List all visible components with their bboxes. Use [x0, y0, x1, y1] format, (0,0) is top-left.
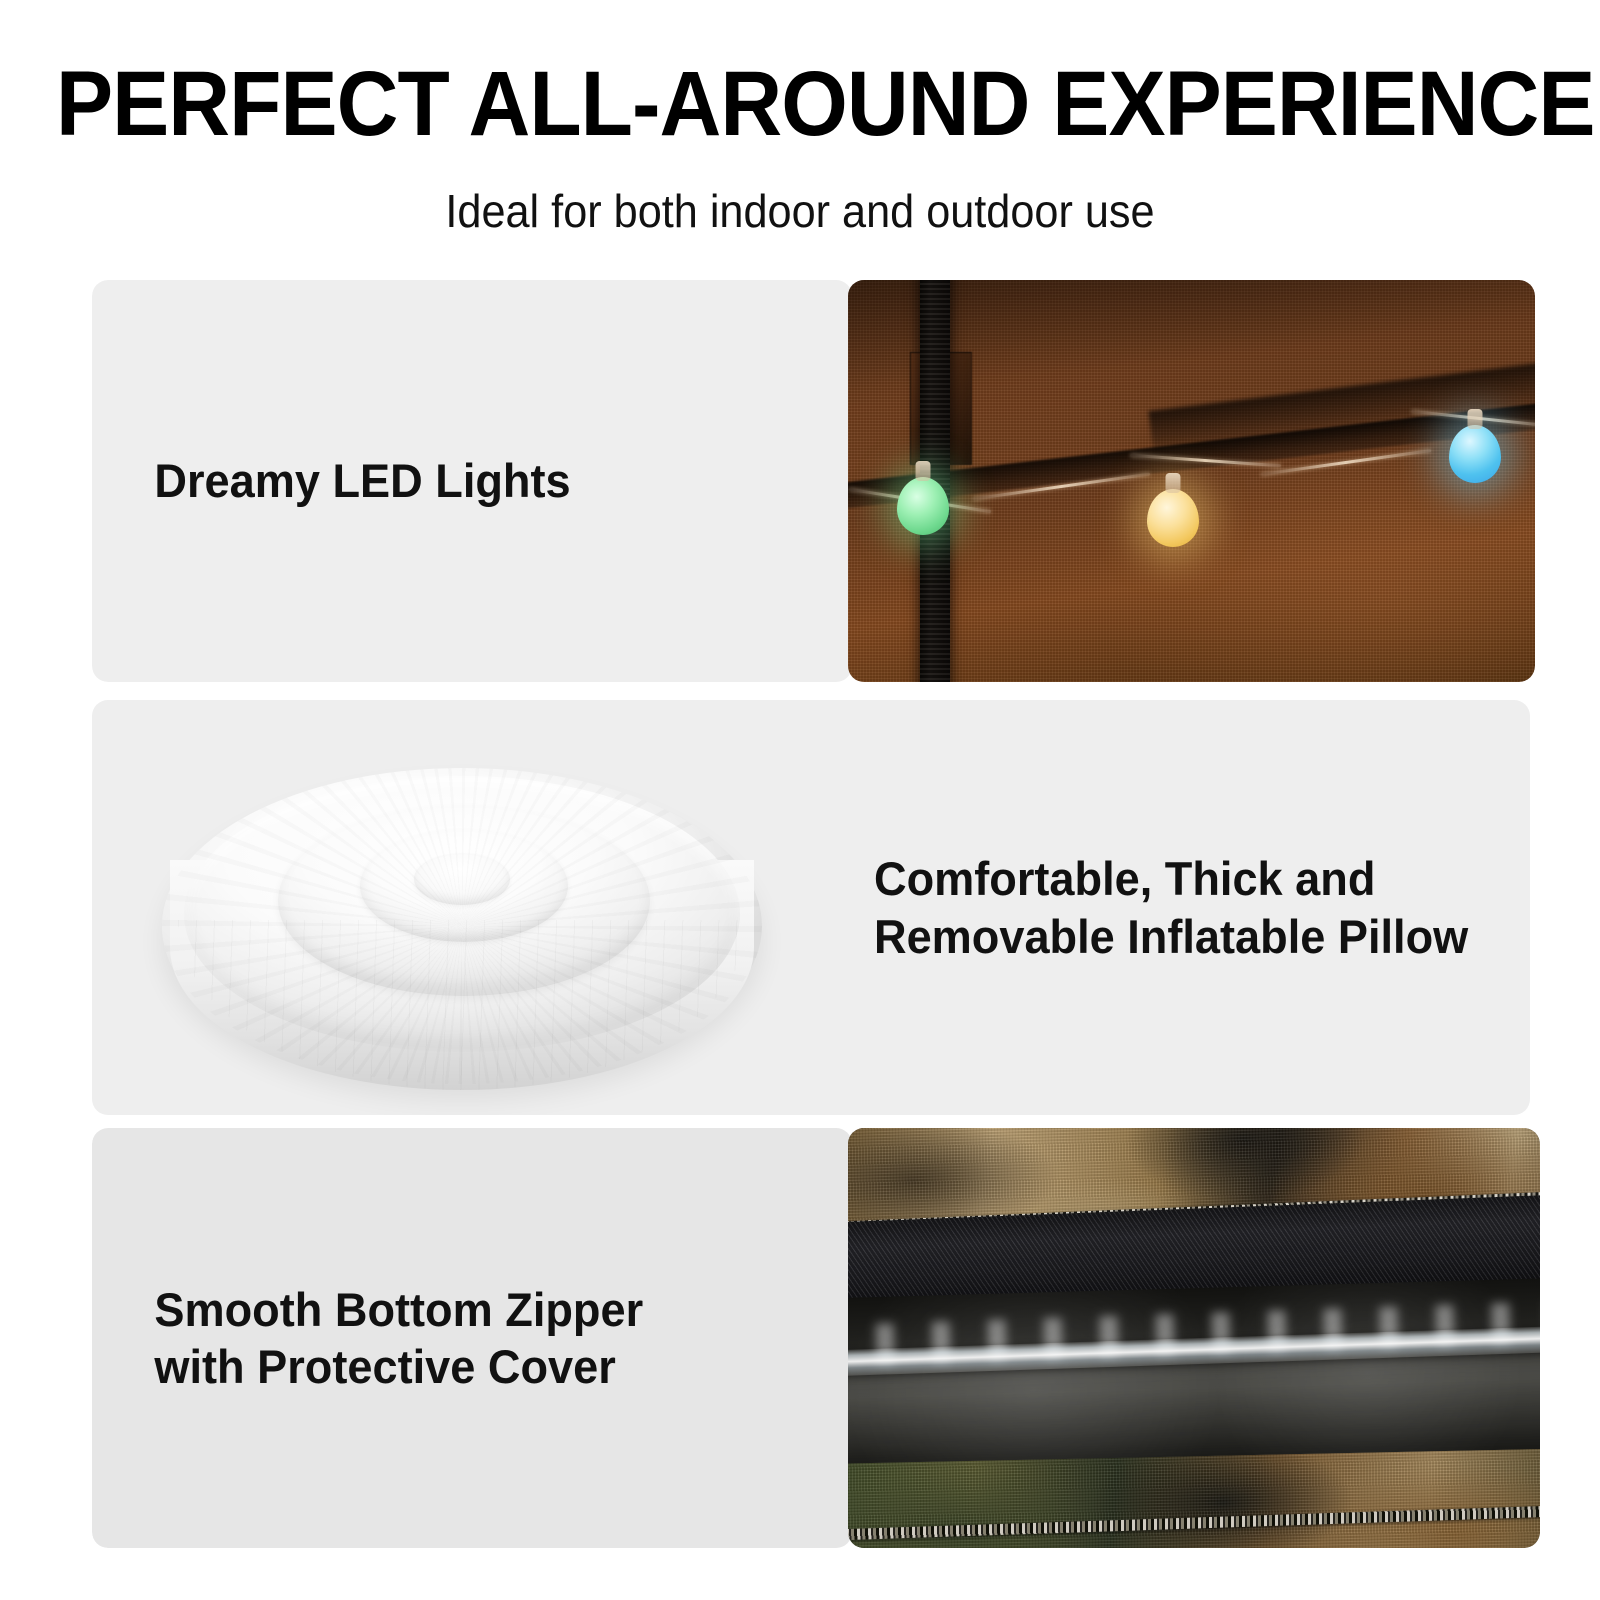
feature-label-line-2: Removable Inflatable Pillow: [874, 910, 1468, 963]
feature-text-pane: Comfortable, Thick and Removable Inflata…: [802, 700, 1530, 1115]
inflatable-pillow-photo: [132, 710, 792, 1110]
pillow-lower-crease-texture: [178, 920, 748, 1090]
feature-label-line-1: Smooth Bottom Zipper: [154, 1283, 643, 1336]
bottom-zipper-photo: [848, 1128, 1540, 1548]
feature-card-led-lights: Dreamy LED Lights: [92, 280, 1535, 682]
feature-label-line-2: with Protective Cover: [154, 1340, 615, 1393]
feature-card-bottom-zipper: Smooth Bottom Zipper with Protective Cov…: [92, 1128, 1540, 1548]
feature-label-line-1: Comfortable, Thick and: [874, 852, 1375, 905]
feature-text-pane: Smooth Bottom Zipper with Protective Cov…: [92, 1128, 852, 1548]
feature-label-inflatable-pillow: Comfortable, Thick and Removable Inflata…: [802, 850, 1468, 965]
feature-label-led-lights: Dreamy LED Lights: [92, 452, 571, 509]
feature-text-pane: Dreamy LED Lights: [92, 280, 852, 682]
header: PERFECT ALL-AROUND EXPERIENCE Ideal for …: [0, 0, 1600, 234]
infographic-page: PERFECT ALL-AROUND EXPERIENCE Ideal for …: [0, 0, 1600, 1600]
feature-card-inflatable-pillow: Comfortable, Thick and Removable Inflata…: [92, 700, 1530, 1115]
led-bulb-yellow: [1147, 489, 1199, 547]
feature-label-bottom-zipper: Smooth Bottom Zipper with Protective Cov…: [92, 1281, 643, 1396]
led-string-lights-photo: [848, 280, 1535, 682]
page-title: PERFECT ALL-AROUND EXPERIENCE: [56, 0, 1544, 150]
page-subtitle: Ideal for both indoor and outdoor use: [48, 150, 1552, 234]
